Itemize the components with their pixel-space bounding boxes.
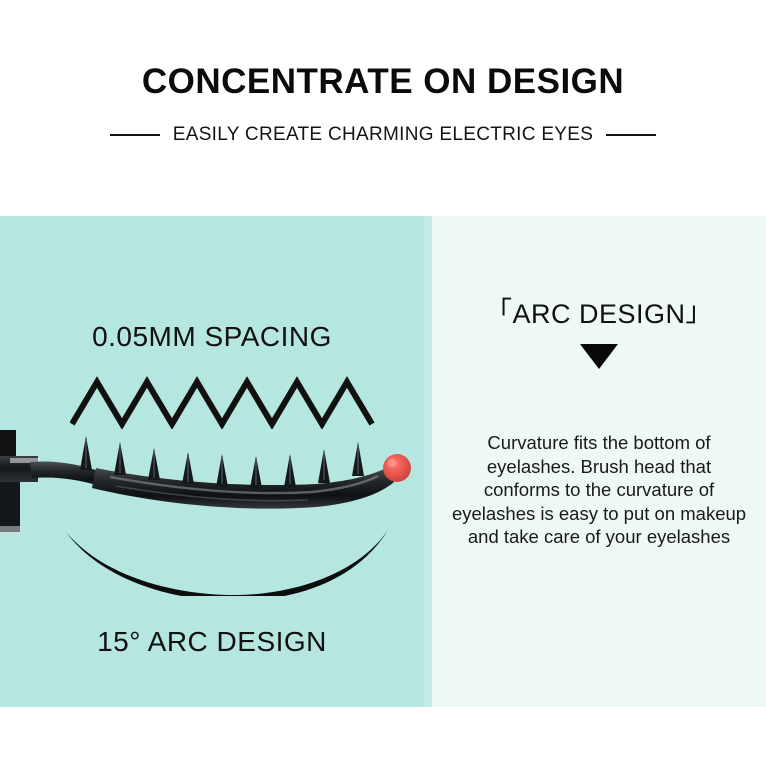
triangle-down-icon (580, 344, 618, 369)
page-title: CONCENTRATE ON DESIGN (0, 61, 766, 103)
page-subtitle: EASILY CREATE CHARMING ELECTRIC EYES (173, 124, 593, 146)
arc-design-description: Curvature fits the bottom of eyelashes. … (448, 431, 750, 549)
bracket-open: 「 (485, 297, 513, 327)
subtitle-row: EASILY CREATE CHARMING ELECTRIC EYES (0, 124, 766, 146)
right-feature-panel: 「ARC DESIGN」 Curvature fits the bottom o… (432, 216, 766, 707)
spacing-label: 0.05MM SPACING (0, 321, 424, 353)
arc-design-heading: 「ARC DESIGN」 (432, 290, 766, 330)
triangle-down-icon-wrap (432, 344, 766, 369)
arc-curve-icon (62, 526, 392, 596)
feature-panels: 0.05MM SPACING (0, 216, 766, 707)
arc-design-heading-text: ARC DESIGN (512, 299, 685, 329)
bracket-close: 」 (686, 297, 714, 327)
subtitle-rule-right (606, 134, 656, 136)
arc-degree-label: 15° ARC DESIGN (0, 626, 424, 658)
subtitle-rule-left (110, 134, 160, 136)
left-feature-panel: 0.05MM SPACING (0, 216, 424, 707)
header-banner: CONCENTRATE ON DESIGN EASILY CREATE CHAR… (0, 0, 766, 216)
panel-divider (424, 216, 432, 707)
